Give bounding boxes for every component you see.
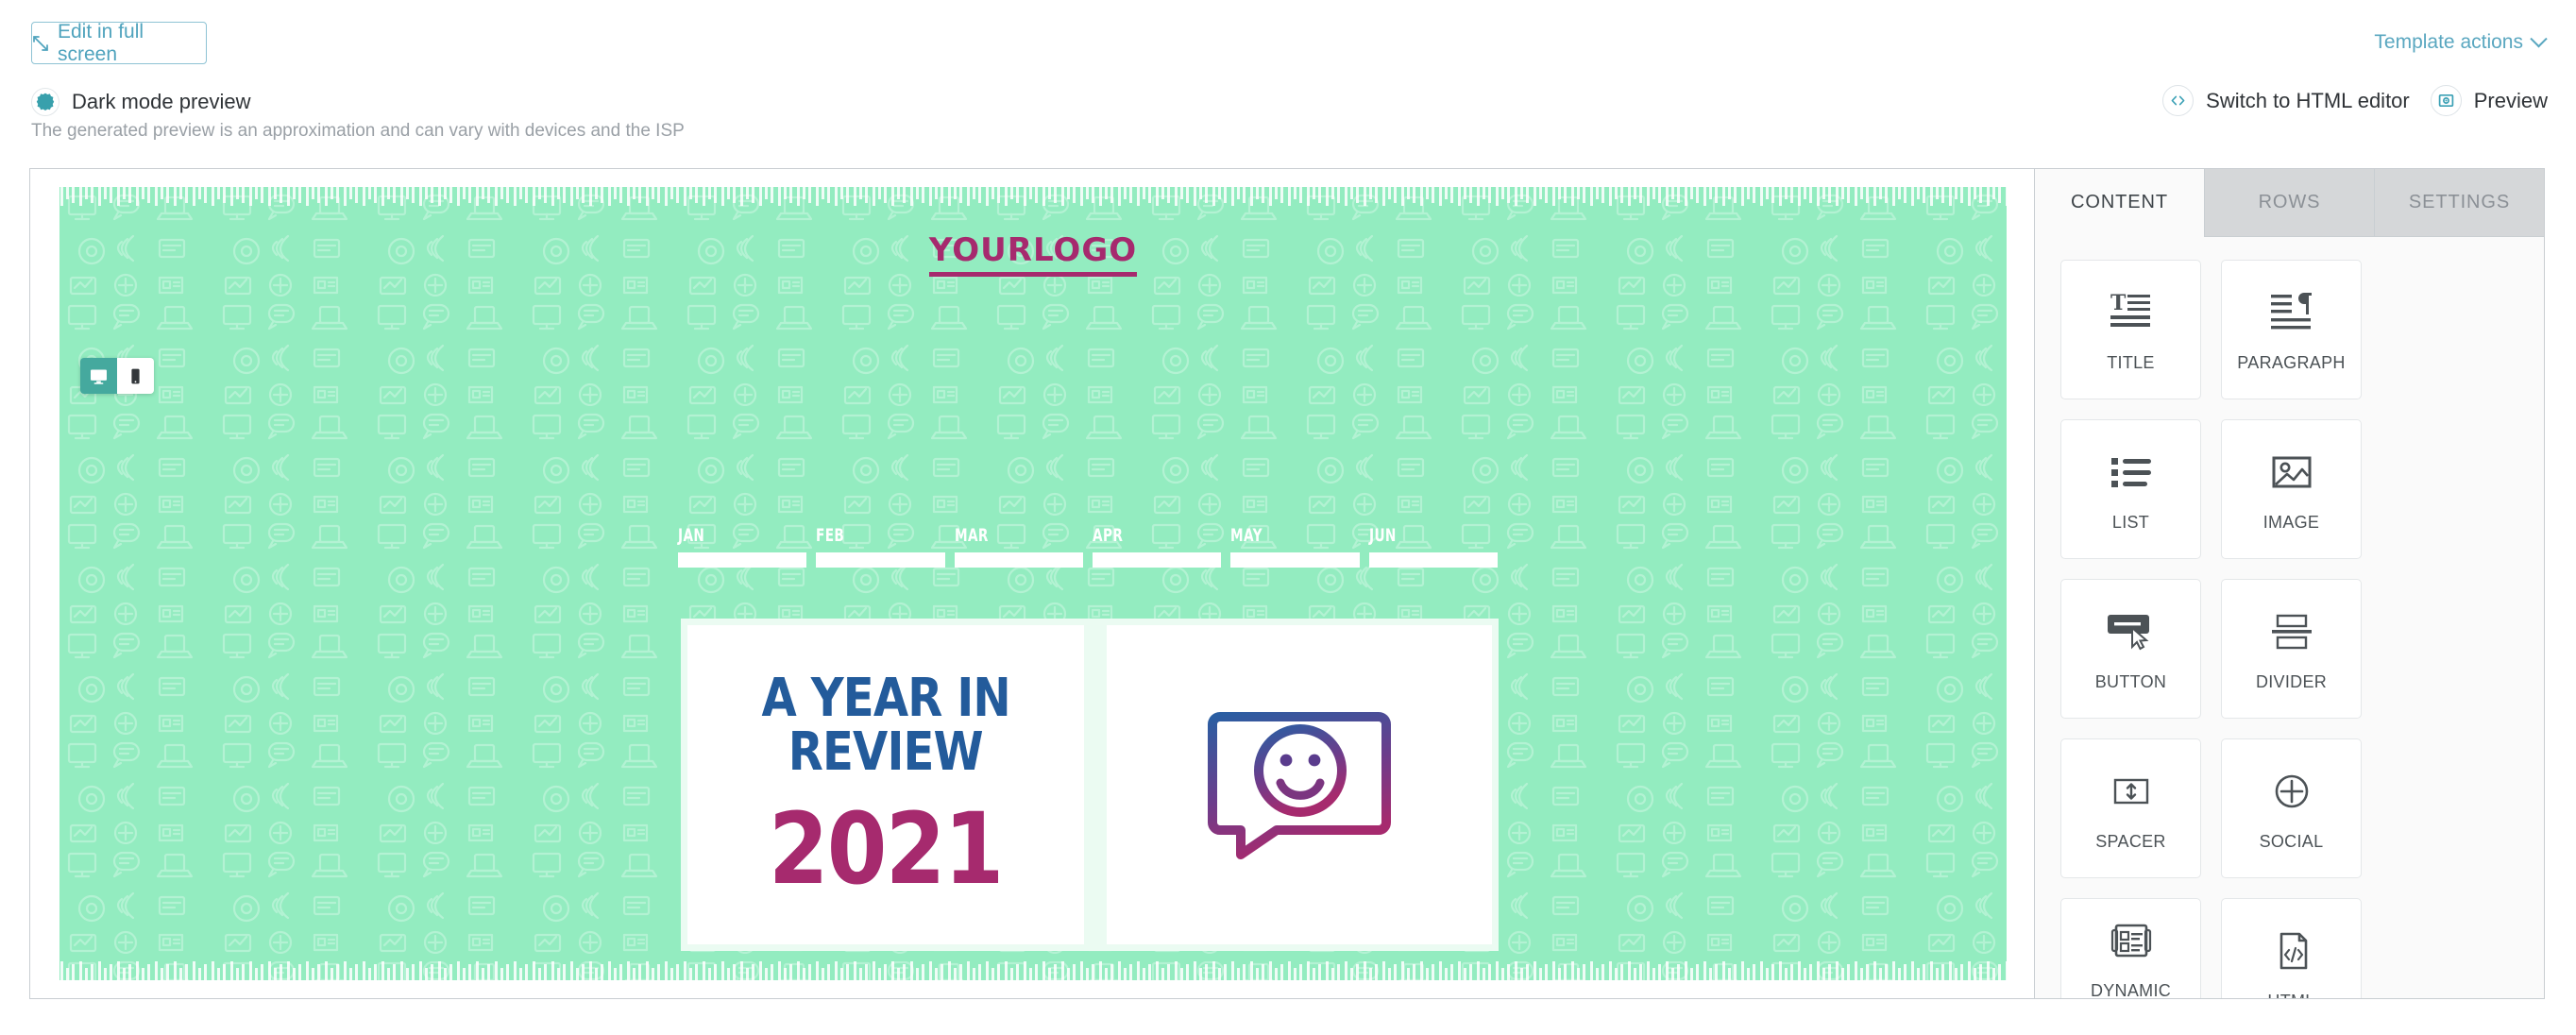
content-block-label: HTML bbox=[2267, 991, 2314, 998]
dynamic-content-icon bbox=[2108, 914, 2155, 967]
divider-icon bbox=[2268, 605, 2315, 658]
content-block-label: TITLE bbox=[2107, 352, 2155, 374]
chevron-down-icon bbox=[2530, 30, 2547, 47]
month-label: MAR bbox=[955, 525, 1047, 546]
email-preview-canvas[interactable]: YOURLOGO JANFEBMARAPRMAYJUN A YEAR IN RE… bbox=[30, 169, 2036, 998]
template-actions-label: Template actions bbox=[2374, 31, 2523, 54]
dark-mode-preview-subtitle: The generated preview is an approximatio… bbox=[31, 121, 685, 142]
hero-line1: A YEAR IN bbox=[761, 671, 1009, 725]
editor-frame: YOURLOGO JANFEBMARAPRMAYJUN A YEAR IN RE… bbox=[29, 168, 2545, 999]
email-body: YOURLOGO JANFEBMARAPRMAYJUN A YEAR IN RE… bbox=[59, 187, 2007, 980]
content-block-button[interactable]: BUTTON bbox=[2060, 579, 2201, 719]
month-cell: MAR bbox=[955, 525, 1083, 568]
content-block-label: PARAGRAPH bbox=[2237, 352, 2345, 374]
header-actions: Switch to HTML editor Preview bbox=[2162, 85, 2548, 116]
code-brackets-icon bbox=[2162, 85, 2194, 116]
dark-mode-preview-row: Dark mode preview bbox=[31, 88, 251, 116]
hero-illustration-panel bbox=[1107, 625, 1492, 944]
top-bar: Edit in full screen Template actions Dar… bbox=[0, 0, 2576, 159]
hero-block[interactable]: A YEAR IN REVIEW 2021 bbox=[681, 619, 1499, 951]
content-block-label: IMAGE bbox=[2263, 512, 2320, 534]
tab-label: SETTINGS bbox=[2409, 192, 2510, 213]
month-cell: JUN bbox=[1369, 525, 1498, 568]
content-block-dynamic-content[interactable]: DYNAMIC CONTENT bbox=[2060, 898, 2201, 998]
tab-label: CONTENT bbox=[2071, 192, 2168, 213]
month-label: APR bbox=[1093, 525, 1185, 546]
dark-mode-preview-title: Dark mode preview bbox=[72, 90, 251, 114]
months-row-top: JANFEBMARAPRMAYJUN bbox=[678, 525, 1498, 568]
content-block-paragraph[interactable]: PARAGRAPH bbox=[2221, 260, 2362, 399]
tab-settings[interactable]: SETTINGS bbox=[2374, 169, 2544, 237]
hero-year: 2021 bbox=[769, 800, 1003, 898]
month-bar bbox=[955, 552, 1083, 568]
content-block-label: DIVIDER bbox=[2256, 671, 2327, 693]
month-cell: APR bbox=[1093, 525, 1221, 568]
eye-preview-icon bbox=[2431, 85, 2462, 116]
month-label: JUN bbox=[1369, 525, 1462, 546]
month-bar bbox=[1093, 552, 1221, 568]
tab-label: ROWS bbox=[2259, 192, 2321, 213]
desktop-icon[interactable] bbox=[80, 358, 117, 394]
expand-arrows-icon bbox=[32, 35, 49, 52]
moon-icon bbox=[31, 88, 59, 116]
month-label: JAN bbox=[678, 525, 771, 546]
month-bar bbox=[816, 552, 944, 568]
content-block-social[interactable]: SOCIAL bbox=[2221, 738, 2362, 878]
hero-line2: REVIEW bbox=[788, 725, 983, 779]
edit-in-full-screen-label: Edit in full screen bbox=[58, 21, 206, 66]
month-bar bbox=[1230, 552, 1359, 568]
switch-to-html-editor-button[interactable]: Switch to HTML editor bbox=[2162, 85, 2410, 116]
content-block-label: LIST bbox=[2112, 512, 2149, 534]
ruler-top-decoration bbox=[59, 187, 2007, 212]
content-block-list[interactable]: LIST bbox=[2060, 419, 2201, 559]
panel-scrollbar[interactable] bbox=[2534, 237, 2544, 998]
switch-to-html-editor-label: Switch to HTML editor bbox=[2206, 89, 2410, 113]
content-block-title[interactable]: T TITLE bbox=[2060, 260, 2201, 399]
button-icon bbox=[2106, 605, 2157, 658]
title-icon: T bbox=[2108, 286, 2155, 339]
panel-tabs: CONTENTROWSSETTINGS bbox=[2035, 169, 2544, 237]
content-blocks-grid: T TITLE PARAGRAPH LIST IMAGE BUTTON DIVI… bbox=[2035, 237, 2544, 998]
content-block-html[interactable]: HTML bbox=[2221, 898, 2362, 998]
month-bar bbox=[678, 552, 806, 568]
content-side-panel: CONTENTROWSSETTINGS T TITLE PARAGRAPH LI… bbox=[2034, 169, 2544, 998]
html-file-icon bbox=[2268, 925, 2315, 977]
content-block-label: SPACER bbox=[2095, 831, 2166, 853]
month-cell: JAN bbox=[678, 525, 806, 568]
social-plus-icon bbox=[2268, 765, 2315, 818]
device-toggle bbox=[80, 358, 154, 394]
month-cell: MAY bbox=[1230, 525, 1359, 568]
mobile-icon[interactable] bbox=[117, 358, 154, 394]
edit-in-full-screen-button[interactable]: Edit in full screen bbox=[31, 22, 207, 64]
image-icon bbox=[2268, 446, 2315, 499]
preview-label: Preview bbox=[2474, 89, 2548, 113]
email-logo: YOURLOGO bbox=[59, 231, 2007, 277]
template-actions-button[interactable]: Template actions bbox=[2374, 31, 2545, 54]
smiley-speech-bubble-icon bbox=[1207, 704, 1392, 867]
tab-rows[interactable]: ROWS bbox=[2204, 169, 2374, 237]
month-label: FEB bbox=[816, 525, 908, 546]
month-label: MAY bbox=[1230, 525, 1323, 546]
paragraph-icon bbox=[2268, 286, 2315, 339]
hero-text-panel: A YEAR IN REVIEW 2021 bbox=[687, 625, 1084, 944]
month-cell: FEB bbox=[816, 525, 944, 568]
preview-button[interactable]: Preview bbox=[2431, 85, 2548, 116]
ruler-bottom-decoration bbox=[59, 956, 2007, 980]
month-bar bbox=[1369, 552, 1498, 568]
content-block-label: SOCIAL bbox=[2260, 831, 2324, 853]
tab-content[interactable]: CONTENT bbox=[2035, 169, 2204, 237]
spacer-icon bbox=[2108, 765, 2155, 818]
list-icon bbox=[2108, 446, 2155, 499]
email-logo-text: YOURLOGO bbox=[929, 231, 1137, 277]
content-block-image[interactable]: IMAGE bbox=[2221, 419, 2362, 559]
content-block-spacer[interactable]: SPACER bbox=[2060, 738, 2201, 878]
svg-text:T: T bbox=[2110, 291, 2127, 315]
content-block-label: BUTTON bbox=[2095, 671, 2166, 693]
content-block-divider[interactable]: DIVIDER bbox=[2221, 579, 2362, 719]
content-block-label: DYNAMIC CONTENT bbox=[2061, 980, 2200, 999]
